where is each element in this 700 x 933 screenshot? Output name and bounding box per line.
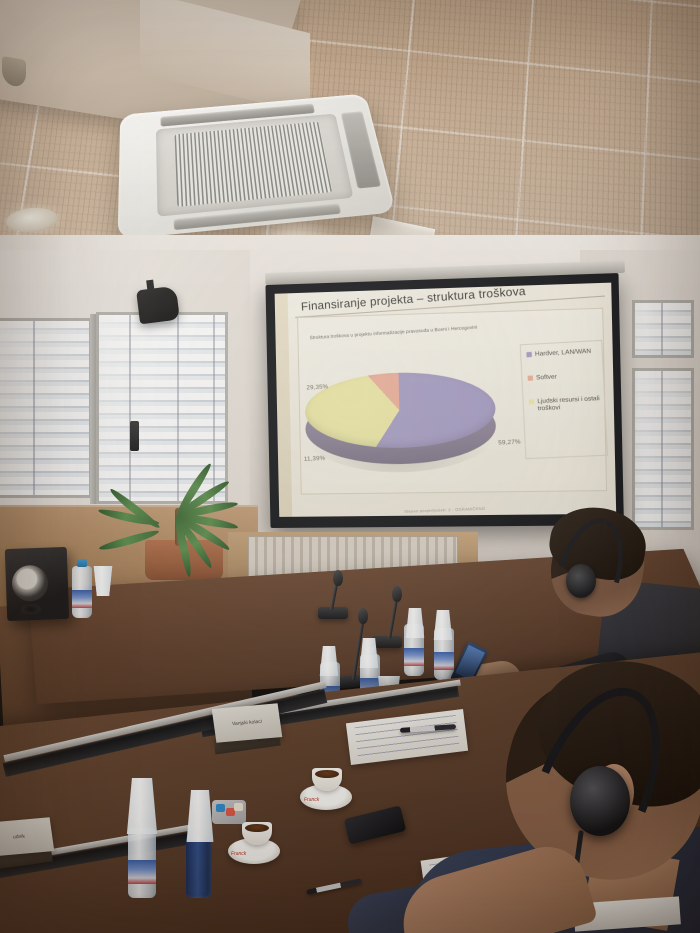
monitor-speaker bbox=[5, 547, 69, 621]
slide-accent-band bbox=[275, 293, 293, 517]
wall-projector bbox=[136, 286, 180, 325]
window-right-lower bbox=[632, 368, 694, 530]
water-bottle[interactable] bbox=[186, 836, 212, 898]
bottle-label bbox=[128, 860, 156, 884]
window-right-upper bbox=[632, 300, 694, 358]
water-bottle[interactable] bbox=[72, 566, 92, 618]
legend-item-software: Softver bbox=[528, 371, 599, 383]
chart-legend: Hardver, LAN/WAN Softver Ljudski resursi… bbox=[520, 340, 608, 459]
legend-swatch-human-resources bbox=[529, 399, 535, 404]
potted-plant bbox=[115, 430, 250, 580]
bottle-cap bbox=[77, 559, 87, 567]
speaker-woofer bbox=[11, 565, 48, 602]
projection-screen[interactable]: Finansiranje projekta – struktura troško… bbox=[265, 273, 623, 528]
speaker-port bbox=[21, 604, 41, 615]
coffee-liquid bbox=[245, 824, 269, 832]
window-light-glow bbox=[635, 303, 691, 355]
bottle-label bbox=[404, 648, 424, 666]
blind-cord[interactable] bbox=[661, 371, 663, 527]
candy-piece bbox=[234, 803, 243, 811]
microphone-head bbox=[392, 586, 402, 602]
microphone-base[interactable] bbox=[372, 636, 402, 648]
coffee-liquid bbox=[315, 770, 339, 778]
saucer-brand-logo: Franck bbox=[304, 797, 319, 803]
nameplate: Vanjski kolaci bbox=[212, 703, 283, 742]
screen-border: Finansiranje projekta – struktura troško… bbox=[265, 273, 623, 528]
blind-cord[interactable] bbox=[661, 303, 663, 355]
candy-dish bbox=[212, 800, 246, 824]
window-light-glow bbox=[635, 371, 691, 527]
attendee-foreground bbox=[410, 672, 700, 933]
nameplate: udnik bbox=[0, 817, 54, 856]
candy-piece bbox=[216, 804, 225, 812]
legend-swatch-software bbox=[528, 375, 534, 380]
window-left-outer bbox=[0, 318, 92, 498]
conference-room-scene: Finansiranje projekta – struktura troško… bbox=[0, 0, 700, 933]
pie-label-software: 11,39% bbox=[304, 456, 326, 463]
legend-label-hardware: Hardver, LAN/WAN bbox=[535, 348, 592, 359]
saucer-brand-logo: Franck bbox=[231, 851, 246, 857]
water-bottle[interactable] bbox=[128, 828, 156, 898]
legend-label-human-resources: Ljudski resursi i ostali troškovi bbox=[537, 394, 600, 413]
nameplate-text: Vanjski kolaci bbox=[232, 719, 263, 728]
legend-item-human-resources: Ljudski resursi i ostali troškovi bbox=[529, 394, 601, 413]
headphones-earcup bbox=[566, 564, 596, 598]
microphone-head bbox=[333, 570, 343, 586]
pie-label-human-resources: 29,35% bbox=[306, 384, 328, 391]
pie-label-hardware: 59,27% bbox=[498, 439, 521, 446]
legend-item-hardware: Hardver, LAN/WAN bbox=[526, 347, 597, 359]
pie-chart bbox=[302, 366, 501, 475]
legend-swatch-hardware bbox=[526, 352, 532, 357]
window-light-glow bbox=[0, 321, 89, 495]
blind-cord[interactable] bbox=[33, 321, 35, 495]
bottle-label bbox=[434, 652, 454, 670]
presentation-slide: Finansiranje projekta – struktura troško… bbox=[275, 283, 617, 517]
bottle-label bbox=[72, 590, 92, 608]
legend-label-software: Softver bbox=[536, 373, 557, 382]
nameplate-text: udnik bbox=[13, 833, 26, 840]
headphones-earcup bbox=[570, 766, 630, 836]
ac-grille bbox=[174, 121, 333, 207]
microphone-head bbox=[358, 608, 368, 624]
